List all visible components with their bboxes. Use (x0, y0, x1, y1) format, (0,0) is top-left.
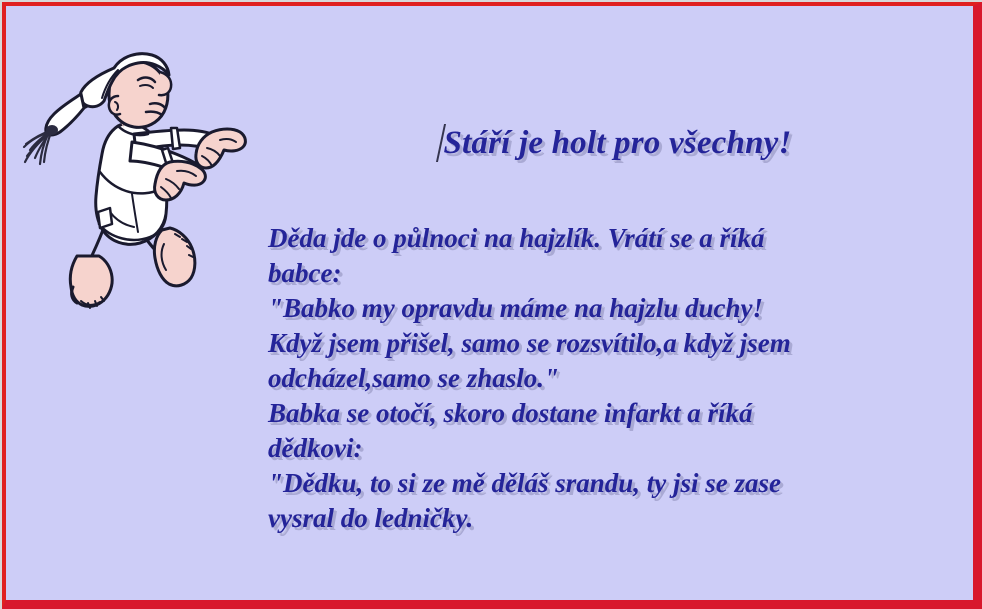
joke-line: Babka se otočí, skoro dostane infarkt a … (268, 396, 968, 431)
joke-line: odcházel,samo se zhaslo." (268, 361, 968, 396)
joke-line: dědkovi: (268, 431, 968, 466)
joke-text-block: Děda jde o půlnoci na hajzlík. Vrátí se … (268, 221, 968, 536)
joke-line: "Dědku, to si ze mě děláš srandu, ty jsi… (268, 466, 968, 501)
red-border: Stáří je holt pro všechny! Děda jde o pů… (2, 2, 982, 609)
nightcap-tassel (24, 130, 52, 164)
joke-line: "Babko my opravdu máme na hajzlu duchy! (268, 291, 968, 326)
page-frame: Stáří je holt pro všechny! Děda jde o pů… (0, 0, 982, 609)
joke-line: vysral do ledničky. (268, 501, 968, 536)
joke-line: Děda jde o půlnoci na hajzlík. Vrátí se … (268, 221, 968, 256)
title-block: Stáří je holt pro všechny! (266, 124, 966, 162)
tassel-knot (46, 125, 58, 135)
joke-line: babce: (268, 256, 968, 291)
sleepwalking-old-man-illustration (14, 44, 264, 334)
joke-line: Když jsem přišel, samo se rozsvítilo,a k… (268, 326, 968, 361)
slide-canvas: Stáří je holt pro všechny! Děda jde o pů… (6, 6, 973, 600)
sleepwalking-old-man-graphic (14, 44, 264, 334)
page-title: Stáří je holt pro všechny! (443, 125, 791, 162)
